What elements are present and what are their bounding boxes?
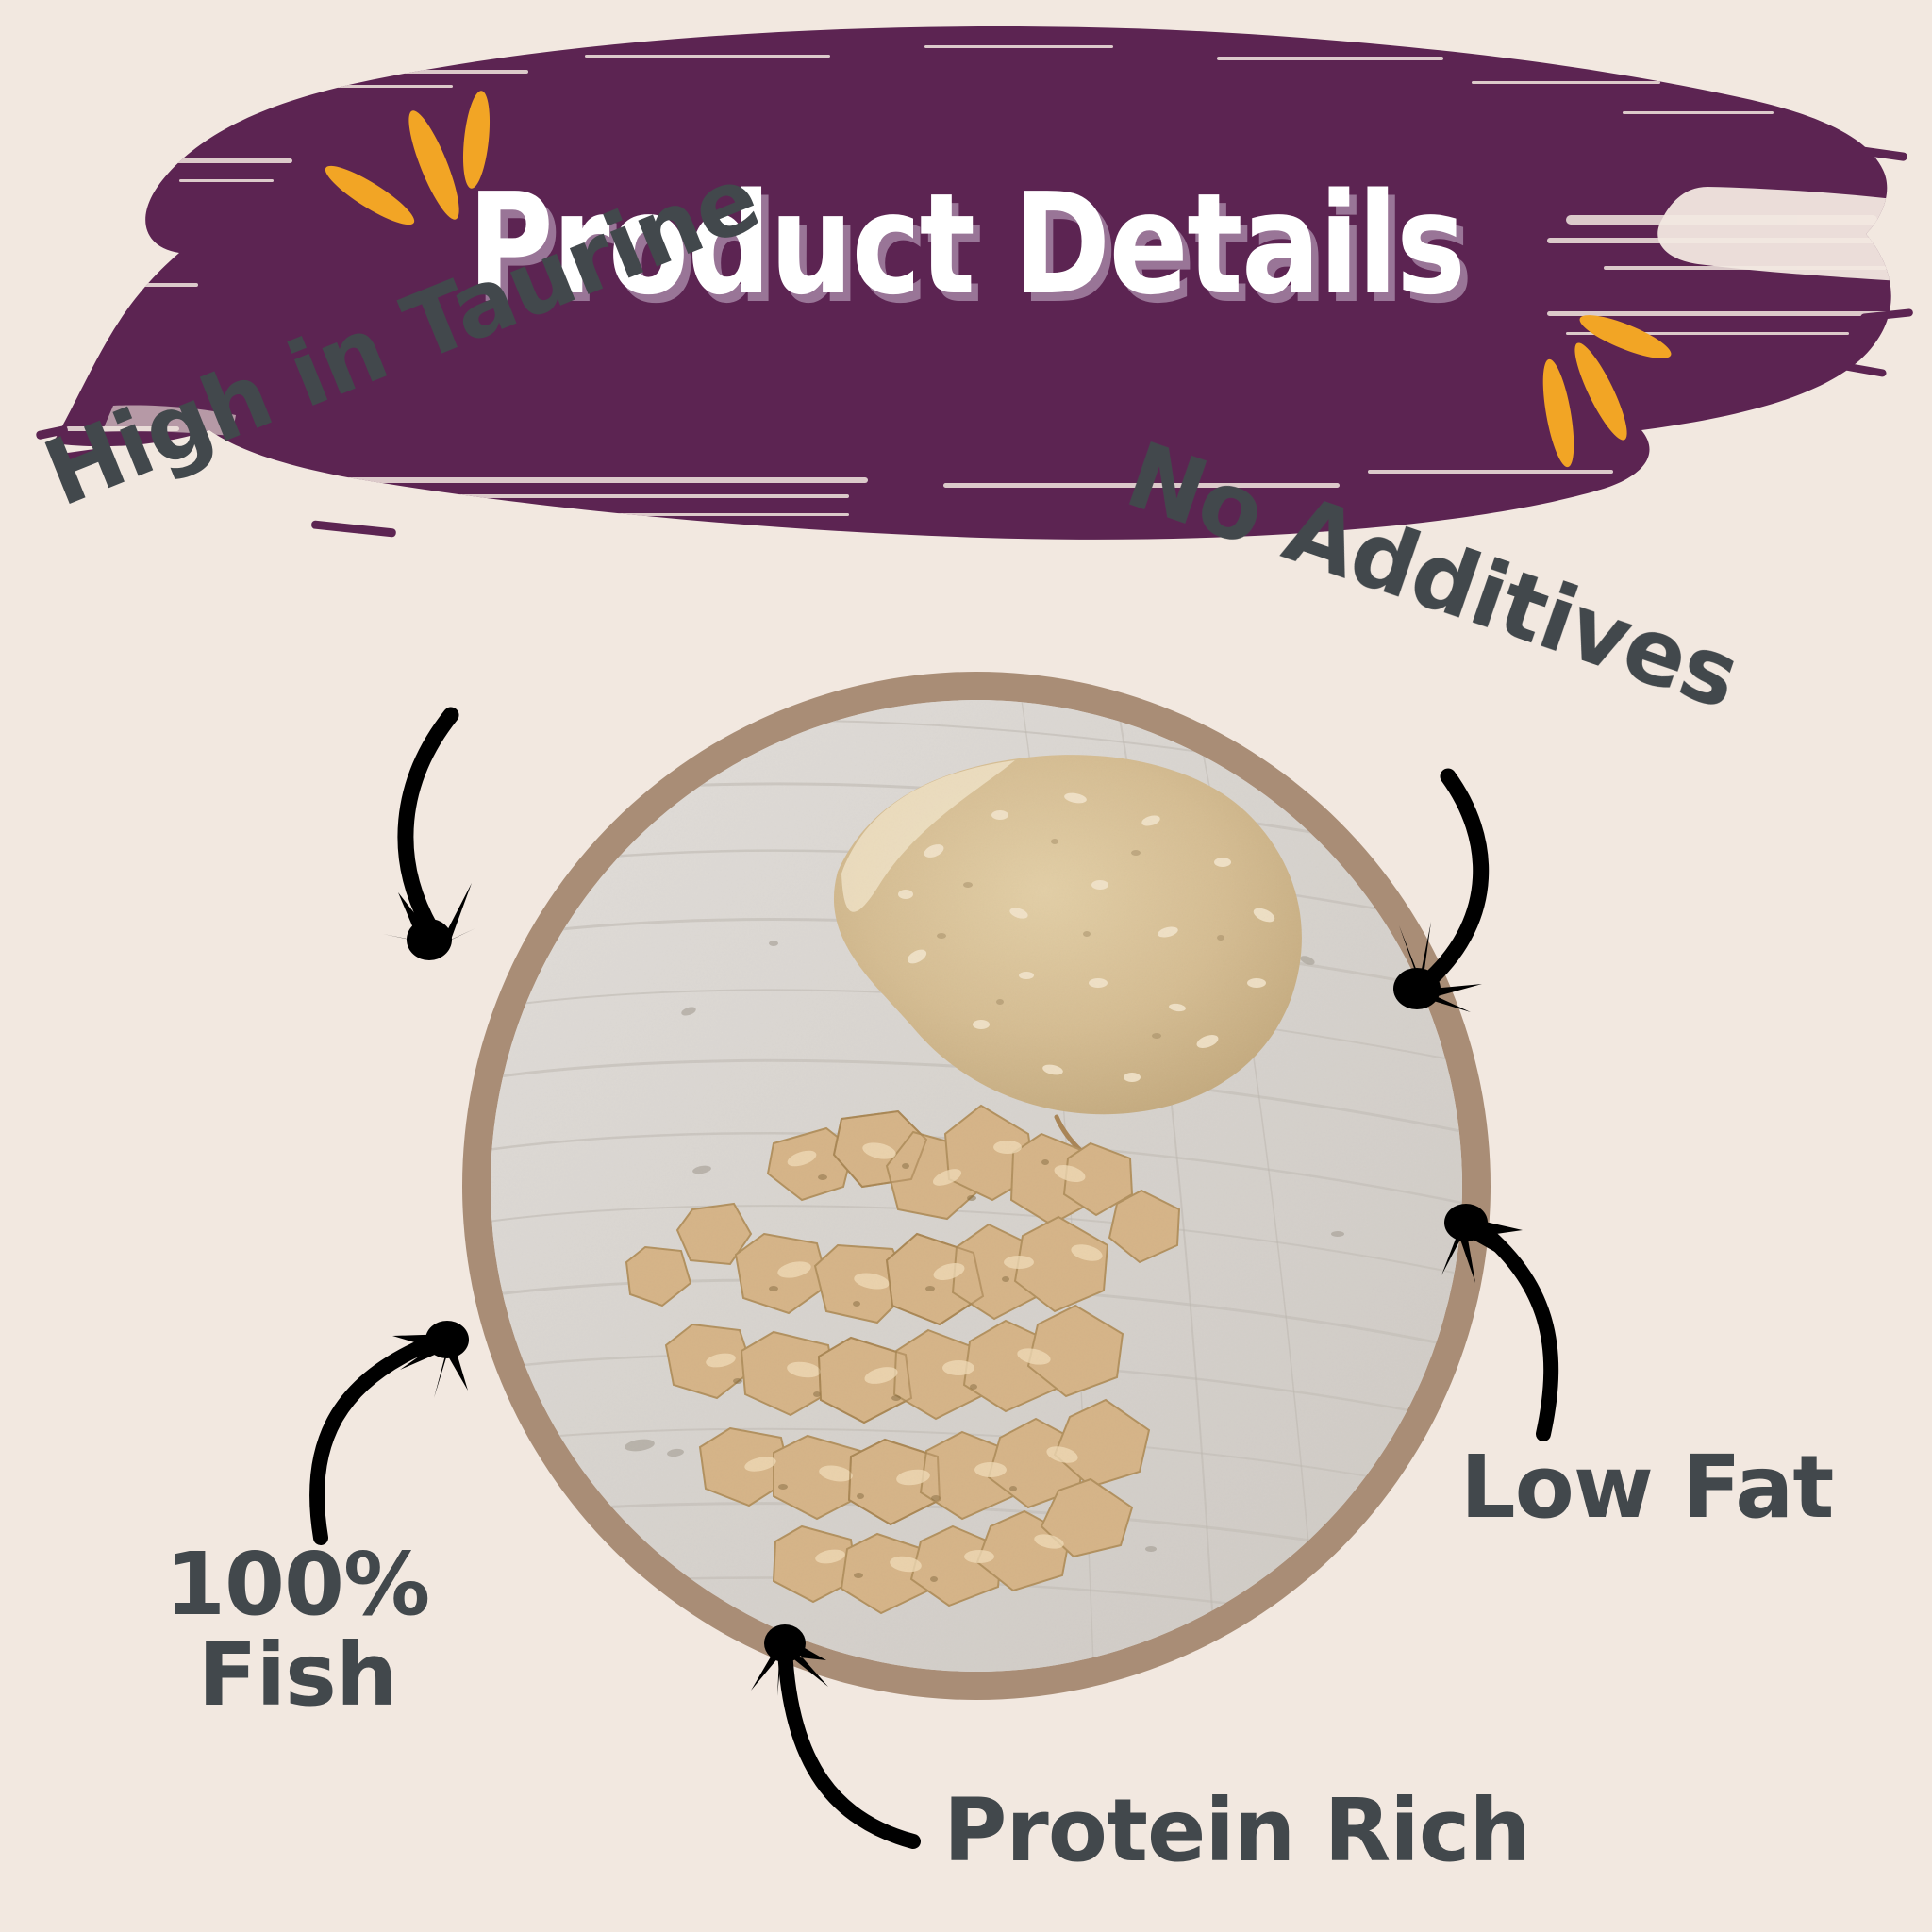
photo-grain: [491, 700, 1462, 1672]
feature-label-protein-rich: Protein Rich: [943, 1787, 1530, 1875]
arrow-100-percent-fish: [272, 1300, 498, 1555]
product-photo-ring: [462, 672, 1491, 1700]
product-details-infographic: Product Details: [0, 0, 1932, 1932]
feature-label-fish-line1: 100%: [165, 1540, 429, 1630]
header-banner: [0, 0, 1932, 566]
feature-label-low-fat: Low Fat: [1460, 1443, 1833, 1532]
banner-brush-shape: [0, 0, 1932, 566]
feature-label-100-percent-fish: 100% Fish: [165, 1540, 429, 1720]
product-photo: [491, 700, 1462, 1672]
feature-label-fish-line2: Fish: [165, 1630, 429, 1721]
